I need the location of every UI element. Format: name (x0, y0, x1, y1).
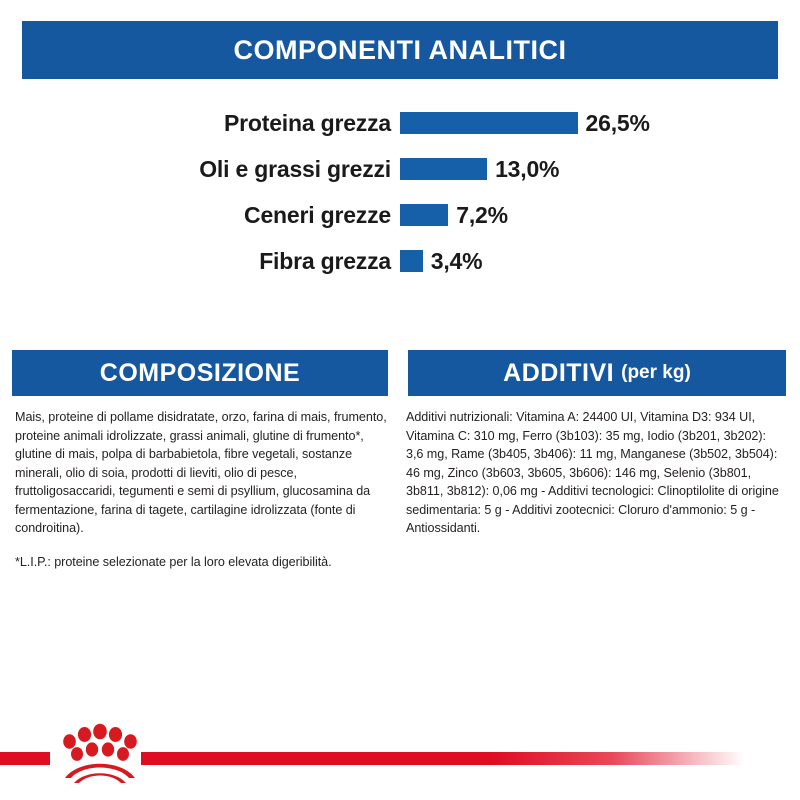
chart-bar (400, 204, 448, 226)
analytical-constituents-header: COMPONENTI ANALITICI (22, 21, 778, 79)
chart-row: Oli e grassi grezzi 13,0% (0, 146, 800, 192)
chart-category-label: Ceneri grezze (0, 202, 400, 229)
chart-row: Fibra grezza 3,4% (0, 238, 800, 284)
additives-title: ADDITIVI (503, 359, 614, 388)
composition-title: COMPOSIZIONE (100, 359, 300, 388)
analytical-constituents-chart: Proteina grezza 26,5% Oli e grassi grezz… (0, 100, 800, 284)
footer-rule-left (0, 752, 50, 765)
chart-value-label: 26,5% (578, 110, 650, 137)
chart-bar (400, 158, 487, 180)
chart-bar-wrap: 13,0% (400, 156, 800, 183)
chart-row: Ceneri grezze 7,2% (0, 192, 800, 238)
chart-row: Proteina grezza 26,5% (0, 100, 800, 146)
footer-brand-strip (0, 690, 800, 800)
chart-bar (400, 112, 578, 134)
chart-bar-wrap: 26,5% (400, 110, 800, 137)
additives-header: ADDITIVI (per kg) (408, 350, 786, 396)
chart-value-label: 3,4% (423, 248, 483, 275)
composition-footnote: *L.I.P.: proteine selezionate per la lor… (15, 553, 387, 572)
chart-bar-wrap: 7,2% (400, 202, 800, 229)
additives-body-text: Additivi nutrizionali: Vitamina A: 24400… (406, 408, 786, 538)
chart-value-label: 7,2% (448, 202, 508, 229)
chart-bar (400, 250, 423, 272)
chart-category-label: Fibra grezza (0, 248, 400, 275)
chart-bar-wrap: 3,4% (400, 248, 800, 275)
composition-header: COMPOSIZIONE (12, 350, 388, 396)
chart-category-label: Oli e grassi grezzi (0, 156, 400, 183)
chart-value-label: 13,0% (487, 156, 559, 183)
royal-canin-crown-icon (55, 721, 145, 783)
footer-rule-right (141, 752, 745, 765)
chart-category-label: Proteina grezza (0, 110, 400, 137)
analytical-constituents-title: COMPONENTI ANALITICI (234, 35, 567, 66)
composition-body-text: Mais, proteine di pollame disidratate, o… (15, 408, 387, 538)
additives-subtitle: (per kg) (621, 362, 691, 384)
